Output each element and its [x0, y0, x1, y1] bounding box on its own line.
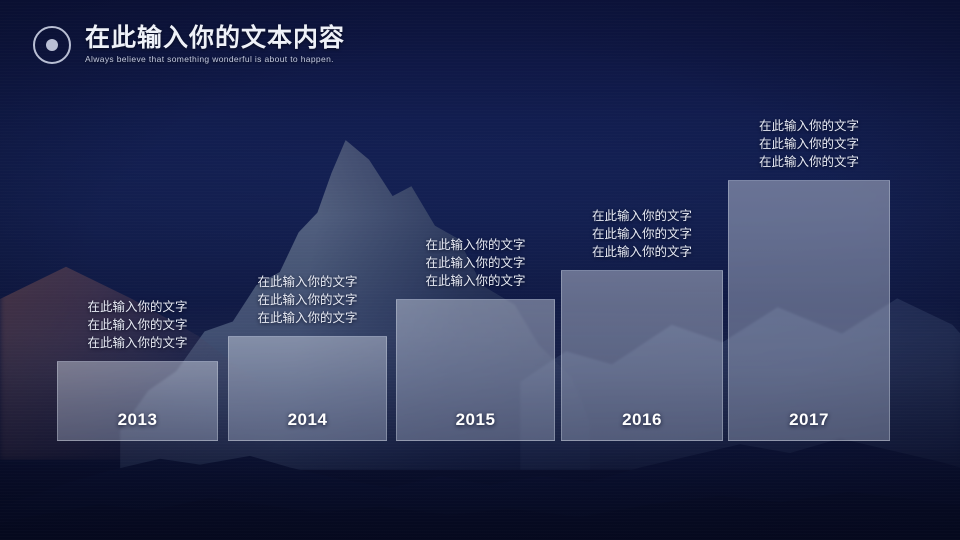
bar-caption-line: 在此输入你的文字 [87, 298, 187, 316]
bar-caption-line: 在此输入你的文字 [425, 254, 525, 272]
bar-year-label: 2015 [397, 410, 554, 430]
bar-group-2014[interactable]: 在此输入你的文字在此输入你的文字在此输入你的文字2014 [228, 336, 387, 441]
bar-caption-line: 在此输入你的文字 [592, 243, 692, 261]
bar-year-label: 2013 [58, 410, 217, 430]
bar-caption-2014: 在此输入你的文字在此输入你的文字在此输入你的文字 [257, 273, 357, 327]
bar-caption-line: 在此输入你的文字 [87, 334, 187, 352]
bar-caption-line: 在此输入你的文字 [257, 291, 357, 309]
bar-rect-2013[interactable]: 2013 [57, 361, 218, 441]
bar-caption-line: 在此输入你的文字 [425, 236, 525, 254]
bar-caption-line: 在此输入你的文字 [257, 273, 357, 291]
bar-caption-line: 在此输入你的文字 [87, 316, 187, 334]
bar-year-label: 2017 [729, 410, 889, 430]
bar-caption-line: 在此输入你的文字 [425, 272, 525, 290]
slide-canvas: 在此输入你的文本内容 Always believe that something… [0, 0, 960, 540]
bar-rect-2016[interactable]: 2016 [561, 270, 723, 441]
bar-caption-line: 在此输入你的文字 [759, 117, 859, 135]
bar-caption-line: 在此输入你的文字 [759, 153, 859, 171]
bar-group-2017[interactable]: 在此输入你的文字在此输入你的文字在此输入你的文字2017 [728, 180, 890, 441]
bar-caption-line: 在此输入你的文字 [592, 207, 692, 225]
bar-caption-2017: 在此输入你的文字在此输入你的文字在此输入你的文字 [759, 117, 859, 171]
bar-group-2013[interactable]: 在此输入你的文字在此输入你的文字在此输入你的文字2013 [57, 361, 218, 441]
bar-group-2015[interactable]: 在此输入你的文字在此输入你的文字在此输入你的文字2015 [396, 299, 555, 441]
bar-rect-2017[interactable]: 2017 [728, 180, 890, 441]
bar-caption-line: 在此输入你的文字 [592, 225, 692, 243]
bar-chart: 在此输入你的文字在此输入你的文字在此输入你的文字2013在此输入你的文字在此输入… [0, 0, 960, 540]
bar-year-label: 2016 [562, 410, 722, 430]
bar-caption-2016: 在此输入你的文字在此输入你的文字在此输入你的文字 [592, 207, 692, 261]
bar-year-label: 2014 [229, 410, 386, 430]
bar-caption-2013: 在此输入你的文字在此输入你的文字在此输入你的文字 [87, 298, 187, 352]
bar-rect-2014[interactable]: 2014 [228, 336, 387, 441]
bar-caption-line: 在此输入你的文字 [759, 135, 859, 153]
bar-rect-2015[interactable]: 2015 [396, 299, 555, 441]
bar-caption-line: 在此输入你的文字 [257, 309, 357, 327]
bar-group-2016[interactable]: 在此输入你的文字在此输入你的文字在此输入你的文字2016 [561, 270, 723, 441]
bar-caption-2015: 在此输入你的文字在此输入你的文字在此输入你的文字 [425, 236, 525, 290]
